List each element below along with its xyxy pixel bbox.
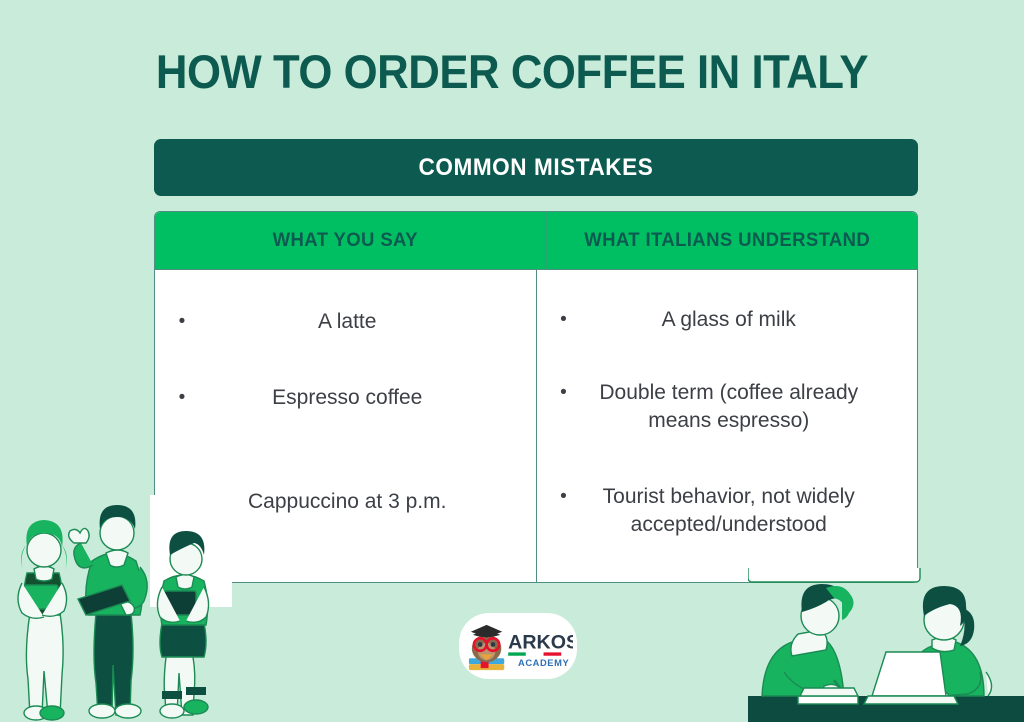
- page-title: HOW TO ORDER COFFEE IN ITALY: [36, 48, 988, 95]
- list-item: • Tourist behavior, not widely accepted/…: [551, 483, 904, 539]
- column-what-italians-understand: • A glass of milk • Double term (coffee …: [536, 270, 918, 583]
- common-mistakes-banner: COMMON MISTAKES: [154, 139, 918, 196]
- column-header-what-italians-understand: WHAT ITALIANS UNDERSTAND: [545, 212, 907, 269]
- column-header-what-you-say: WHAT YOU SAY: [165, 212, 526, 269]
- bullet-icon: •: [551, 483, 577, 511]
- students-at-desk-illustration: [748, 568, 1024, 722]
- table-body: • A latte • Espresso coffee • Cappuccino…: [155, 270, 917, 583]
- logo-brand-text: ARKOS: [508, 631, 573, 653]
- list-item: • Double term (coffee already means espr…: [551, 379, 904, 435]
- list-item-label: Cappuccino at 3 p.m.: [195, 488, 522, 516]
- logo-graphic: ARKOS ACADEMY: [463, 619, 573, 674]
- list-item-label: A glass of milk: [577, 306, 904, 334]
- bullet-icon: •: [551, 379, 577, 407]
- bullet-icon: •: [551, 306, 577, 334]
- list-item-label: Espresso coffee: [195, 384, 522, 412]
- table-header-row: WHAT YOU SAY WHAT ITALIANS UNDERSTAND: [155, 212, 917, 270]
- bullet-icon: •: [169, 308, 195, 336]
- arkos-academy-logo: ARKOS ACADEMY: [459, 613, 577, 679]
- logo-subtitle-text: ACADEMY: [518, 658, 569, 668]
- list-item-label: Tourist behavior, not widely accepted/un…: [577, 483, 904, 539]
- comparison-table: WHAT YOU SAY WHAT ITALIANS UNDERSTAND • …: [154, 211, 918, 583]
- list-item: • Espresso coffee: [169, 384, 522, 412]
- italian-flag-icon: [508, 652, 561, 655]
- student-center-figure: [69, 505, 148, 718]
- list-item: • A glass of milk: [551, 306, 904, 334]
- banner-label: COMMON MISTAKES: [419, 154, 654, 182]
- list-item-label: Double term (coffee already means espres…: [577, 379, 904, 435]
- student-writing-figure: [762, 584, 858, 704]
- list-item: • A latte: [169, 308, 522, 336]
- student-left-figure: [18, 520, 67, 720]
- list-item-label: A latte: [195, 308, 522, 336]
- bullet-icon: •: [169, 384, 195, 412]
- owl-icon: [471, 624, 502, 661]
- students-standing-illustration: [0, 495, 232, 722]
